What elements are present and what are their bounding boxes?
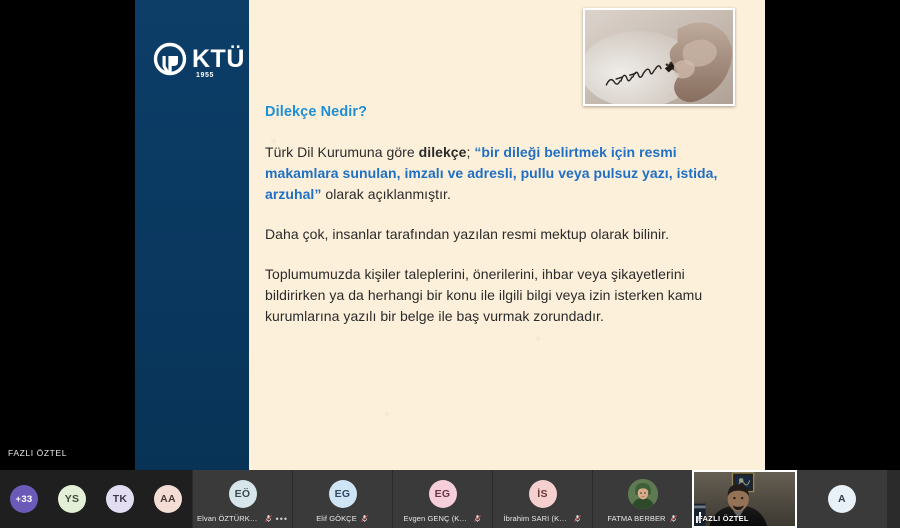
avatar-initials: AA (160, 493, 176, 505)
participant-tile[interactable]: +33 (0, 470, 48, 528)
participant-label: FATMA BERBER (593, 514, 692, 523)
participant-tile[interactable]: AA (144, 470, 192, 528)
slide-content-area: Dilekçe Nedir? Türk Dil Kurumuna göre di… (249, 0, 765, 470)
participant-name: Elif GÖKÇE (316, 514, 357, 523)
active-speaker-video: FAZLI ÖZTEL (692, 470, 797, 528)
slide-title: Dilekçe Nedir? (265, 104, 367, 120)
ktu-circular-emblem-icon (153, 42, 187, 76)
microphone-muted-icon[interactable] (573, 514, 582, 523)
participant-name: Evgen GENÇ (Konuk) (404, 514, 470, 523)
ktu-logo: KTÜ 1955 (153, 42, 245, 76)
avatar: A (828, 485, 856, 513)
participant-label: İbrahim SARI (Konuk) (493, 514, 592, 523)
participant-tile[interactable]: EÖElvan ÖZTÜRKM...••• (192, 470, 292, 528)
avatar-initials: +33 (15, 494, 32, 505)
participant-tile[interactable]: EGElif GÖKÇE (292, 470, 392, 528)
shared-content-stage[interactable]: KTÜ 1955 (0, 0, 900, 470)
more-options-icon[interactable]: ••• (276, 516, 288, 522)
avatar: EG (329, 480, 357, 508)
body-text-run: olarak açıklanmıştır. (321, 186, 450, 202)
participant-name: İbrahim SARI (Konuk) (504, 514, 570, 523)
avatar-initials: İS (537, 488, 548, 500)
avatar-initials: EG (435, 488, 451, 500)
avatar: AA (154, 485, 182, 513)
avatar-initials: A (838, 493, 846, 505)
avatar-initials: YS (65, 493, 80, 505)
participant-tile[interactable]: İSİbrahim SARI (Konuk) (492, 470, 592, 528)
body-text-run: Türk Dil Kurumuna göre (265, 144, 419, 160)
emphasized-term: dilekçe (419, 144, 467, 160)
avatar: YS (58, 485, 86, 513)
ktu-logo-year: 1955 (196, 72, 214, 79)
participant-tile[interactable]: TK (96, 470, 144, 528)
participant-name: FAZLI ÖZTEL (698, 514, 749, 523)
microphone-muted-icon[interactable] (473, 514, 482, 523)
avatar: EÖ (229, 480, 257, 508)
participant-label: Elif GÖKÇE (293, 514, 392, 523)
stage-presenter-label: FAZLI ÖZTEL (8, 448, 67, 458)
overflow-participants-badge: +33 (10, 485, 38, 513)
body-text-run: Toplumumuzda kişiler taleplerini, öneril… (265, 266, 702, 324)
participant-tile-active-speaker[interactable]: FAZLI ÖZTEL (692, 470, 797, 528)
avatar (628, 479, 658, 509)
avatar: İS (529, 480, 557, 508)
avatar: TK (106, 485, 134, 513)
slide-left-blue-band: KTÜ 1955 (135, 0, 249, 470)
participant-tile[interactable]: FATMA BERBER (592, 470, 692, 528)
body-text-run: Daha çok, insanlar tarafından yazılan re… (265, 226, 669, 242)
hand-writing-with-fountain-pen-photo (583, 8, 735, 106)
participant-tile[interactable]: YS (48, 470, 96, 528)
slide-body-text: Türk Dil Kurumuna göre dilekçe; “bir dil… (265, 142, 729, 346)
avatar-initials: EG (335, 488, 351, 500)
slide-paragraph-1: Türk Dil Kurumuna göre dilekçe; “bir dil… (265, 142, 729, 205)
microphone-muted-icon[interactable] (669, 514, 678, 523)
presentation-slide: KTÜ 1955 (135, 0, 765, 470)
avatar-initials: TK (113, 493, 128, 505)
avatar: EG (429, 480, 457, 508)
participant-tile[interactable]: EGEvgen GENÇ (Konuk) (392, 470, 492, 528)
slide-paragraph-3: Toplumumuzda kişiler taleplerini, öneril… (265, 264, 729, 327)
participant-name: Elvan ÖZTÜRKM... (197, 514, 261, 523)
slide-paragraph-2: Daha çok, insanlar tarafından yazılan re… (265, 224, 729, 245)
participant-filmstrip[interactable]: +33YSTKAAEÖElvan ÖZTÜRKM...•••EGElif GÖK… (0, 470, 900, 528)
ktu-logo-name: KTÜ (192, 45, 245, 73)
participant-label: Evgen GENÇ (Konuk) (393, 514, 492, 523)
avatar-initials: EÖ (235, 488, 251, 500)
microphone-muted-icon[interactable] (360, 514, 369, 523)
meeting-screen-share-window: KTÜ 1955 (0, 0, 900, 528)
participant-name: FATMA BERBER (607, 514, 665, 523)
participant-tile[interactable]: A (797, 470, 887, 528)
ktu-logo-text: KTÜ 1955 (192, 47, 245, 72)
participant-label: Elvan ÖZTÜRKM...••• (193, 514, 292, 523)
microphone-muted-icon[interactable] (264, 514, 273, 523)
